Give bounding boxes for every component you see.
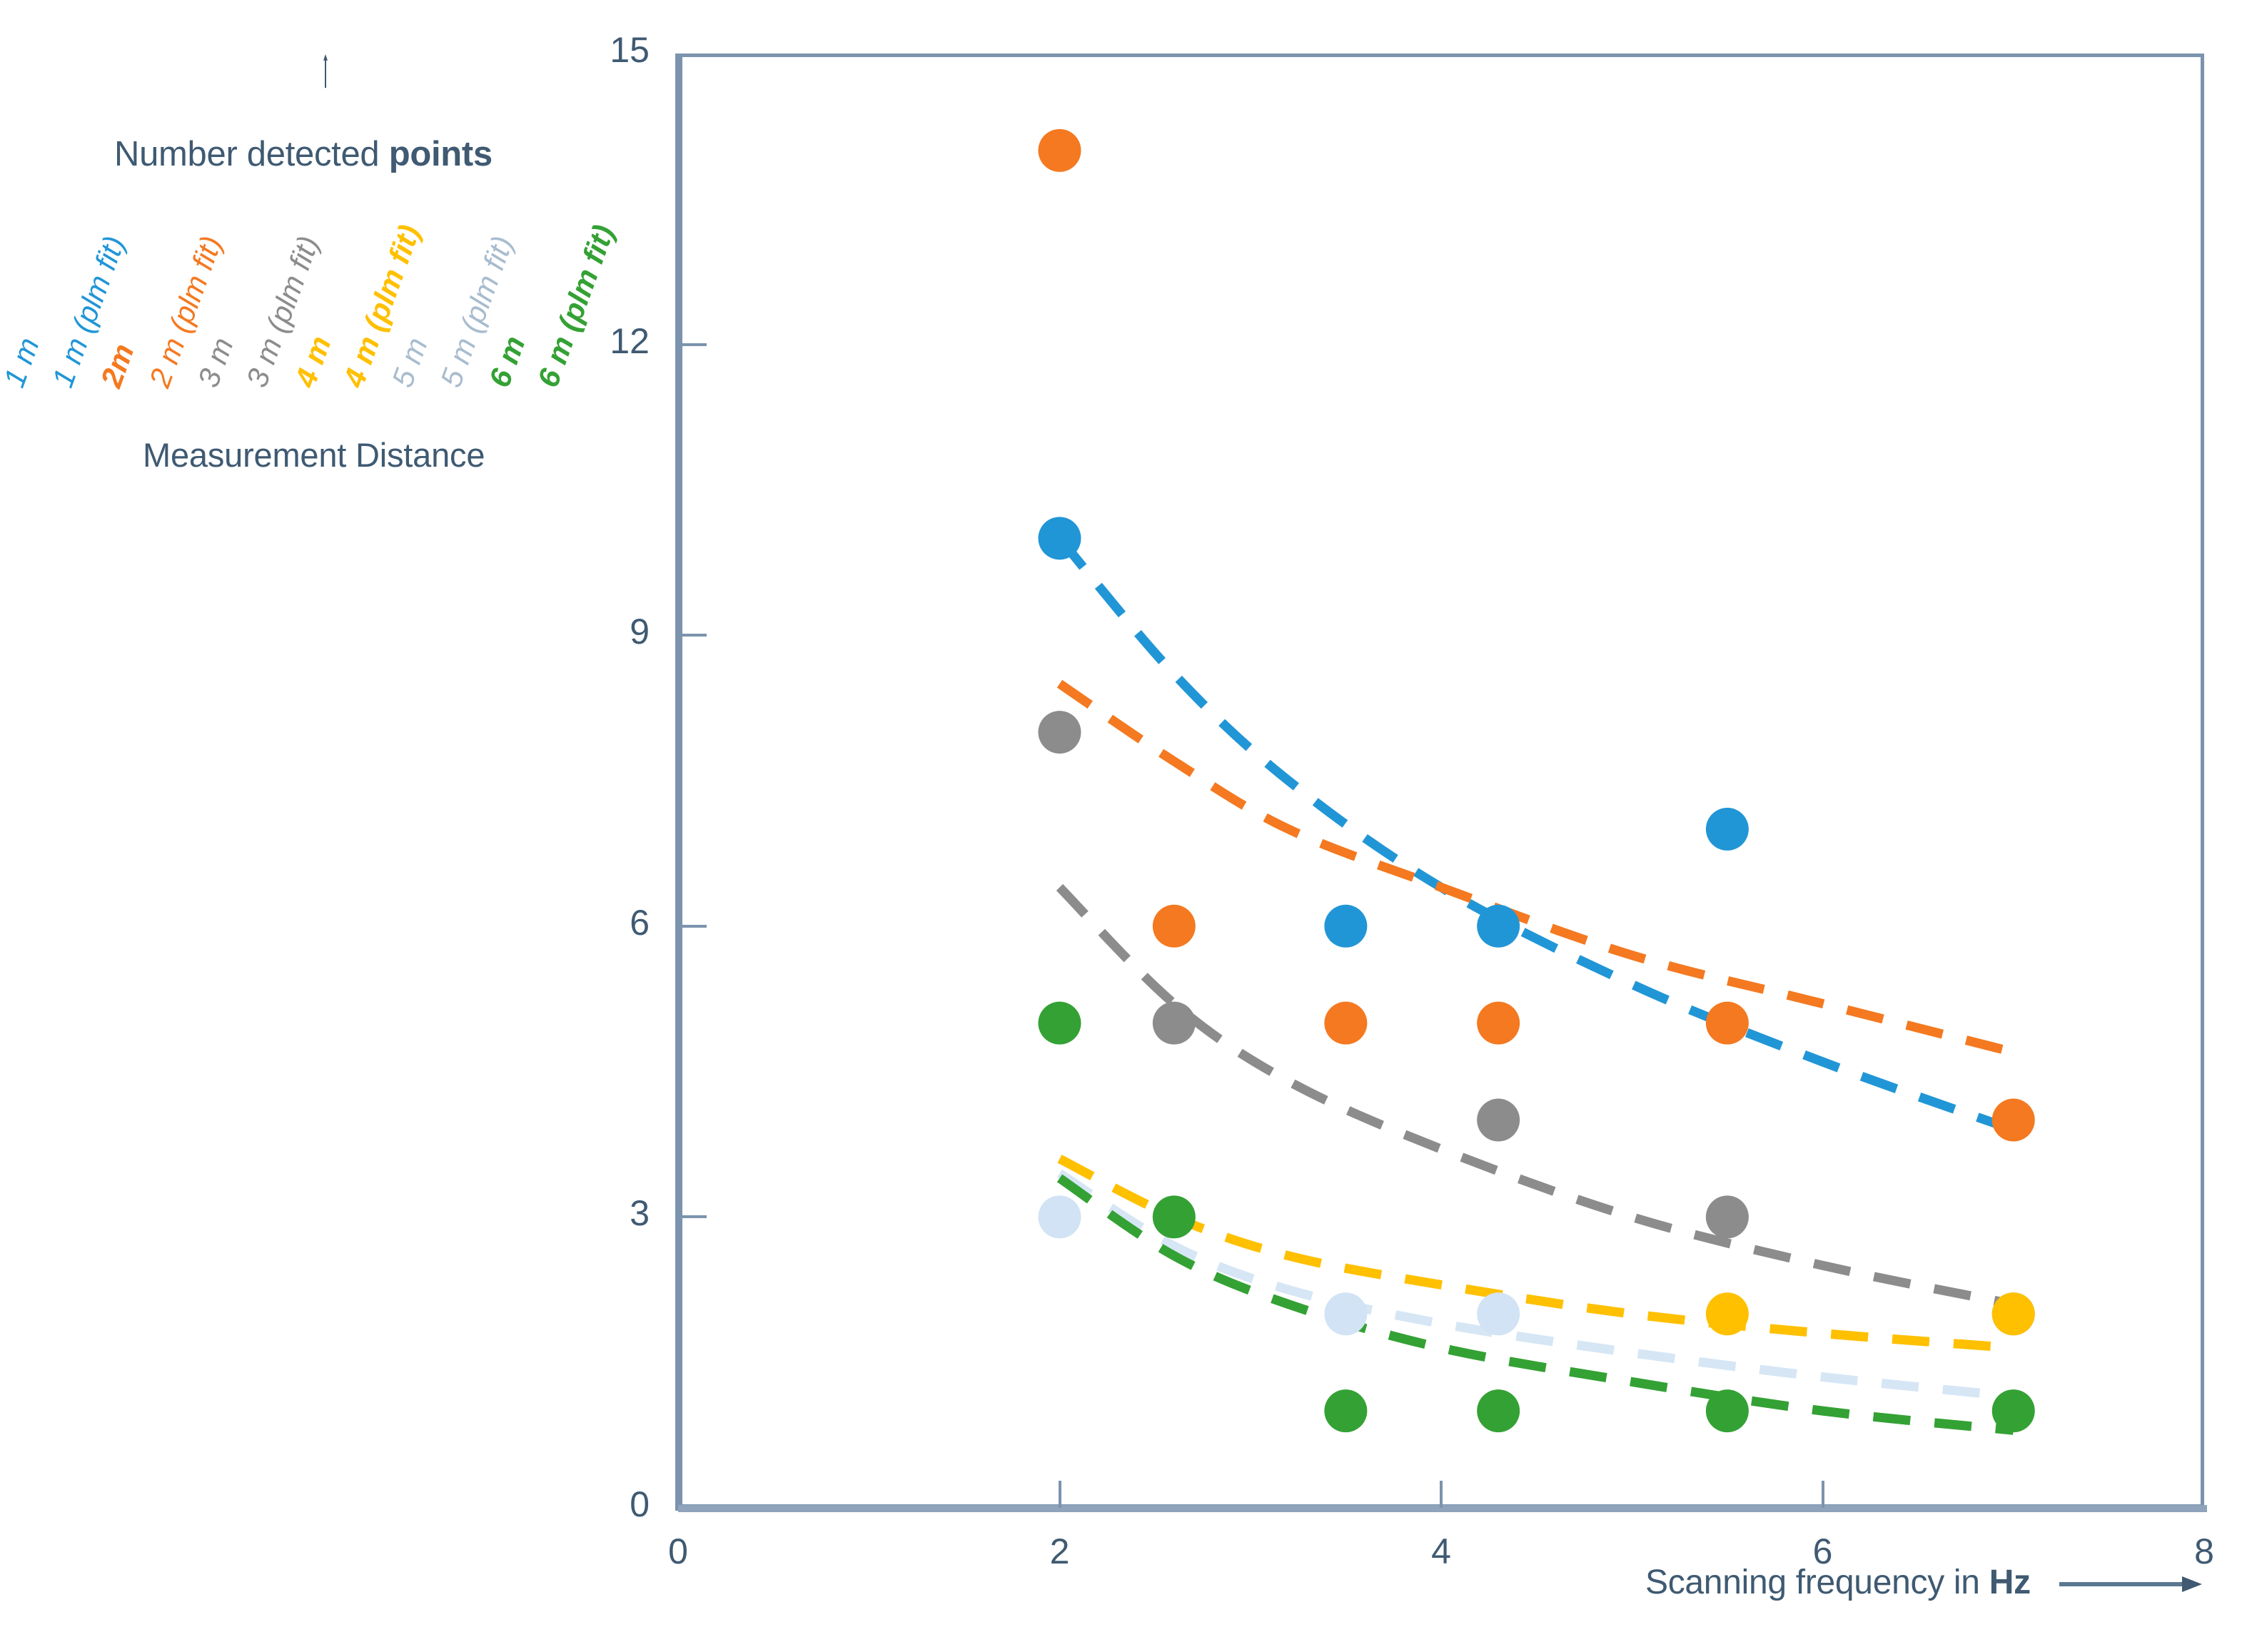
fit-line-2-m	[1060, 684, 2014, 1052]
data-point-6-m[interactable]	[1039, 1002, 1081, 1045]
plot-wrapper: 15129630 02468 Scanning frequency in Hz	[0, 0, 2247, 1652]
x-axis-direction-arrow-icon	[2059, 1574, 2202, 1595]
x-axis-tick-label: 0	[642, 1531, 714, 1572]
data-point-6-m[interactable]	[1324, 1389, 1367, 1432]
x-axis-title-plain: Scanning frequency in	[1645, 1564, 1989, 1601]
data-point-2-m[interactable]	[1706, 1002, 1749, 1045]
y-axis-tick-label: 3	[557, 1192, 650, 1234]
fit-line-3-m	[1060, 887, 2014, 1304]
x-axis-tick-label: 4	[1405, 1531, 1477, 1572]
data-point-5-m[interactable]	[1324, 1292, 1367, 1335]
data-point-5-m[interactable]	[1039, 1195, 1081, 1238]
data-point-3-m[interactable]	[1477, 1099, 1520, 1142]
data-point-4-m[interactable]	[1706, 1292, 1749, 1335]
data-point-4-m[interactable]	[1992, 1292, 2035, 1335]
x-axis-tick-label: 2	[1024, 1531, 1096, 1572]
data-point-1-m[interactable]	[1324, 905, 1367, 948]
y-axis-tick-label: 12	[557, 320, 650, 362]
data-point-3-m[interactable]	[1153, 1002, 1196, 1045]
data-layer	[678, 54, 2204, 1508]
data-point-3-m[interactable]	[1706, 1195, 1749, 1238]
y-axis-tick-label: 15	[557, 29, 650, 71]
data-point-5-m[interactable]	[1477, 1292, 1520, 1335]
data-point-2-m[interactable]	[1477, 1002, 1520, 1045]
y-axis-tick-label: 9	[557, 611, 650, 652]
data-point-6-m[interactable]	[1153, 1195, 1196, 1238]
x-axis-title: Scanning frequency in Hz	[1645, 1563, 2031, 1602]
data-point-2-m[interactable]	[1153, 905, 1196, 948]
x-axis-tick-label: 8	[2168, 1531, 2240, 1572]
data-point-2-m[interactable]	[1039, 129, 1081, 172]
data-point-2-m[interactable]	[1992, 1099, 2035, 1142]
data-point-6-m[interactable]	[1706, 1389, 1749, 1432]
data-point-1-m[interactable]	[1706, 808, 1749, 851]
chart-page: Number detected points 1 m1 m (plm fit)2…	[0, 0, 2247, 1652]
data-point-1-m[interactable]	[1039, 517, 1081, 559]
data-point-2-m[interactable]	[1324, 1002, 1367, 1045]
y-axis-tick-label: 0	[557, 1484, 650, 1525]
fit-line-1-m	[1060, 538, 2014, 1130]
data-point-1-m[interactable]	[1477, 905, 1520, 948]
data-point-6-m[interactable]	[1477, 1389, 1520, 1432]
x-axis-title-bold: Hz	[1989, 1564, 2031, 1601]
data-point-3-m[interactable]	[1039, 711, 1081, 754]
y-axis-tick-label: 6	[557, 902, 650, 943]
data-point-6-m[interactable]	[1992, 1389, 2035, 1432]
